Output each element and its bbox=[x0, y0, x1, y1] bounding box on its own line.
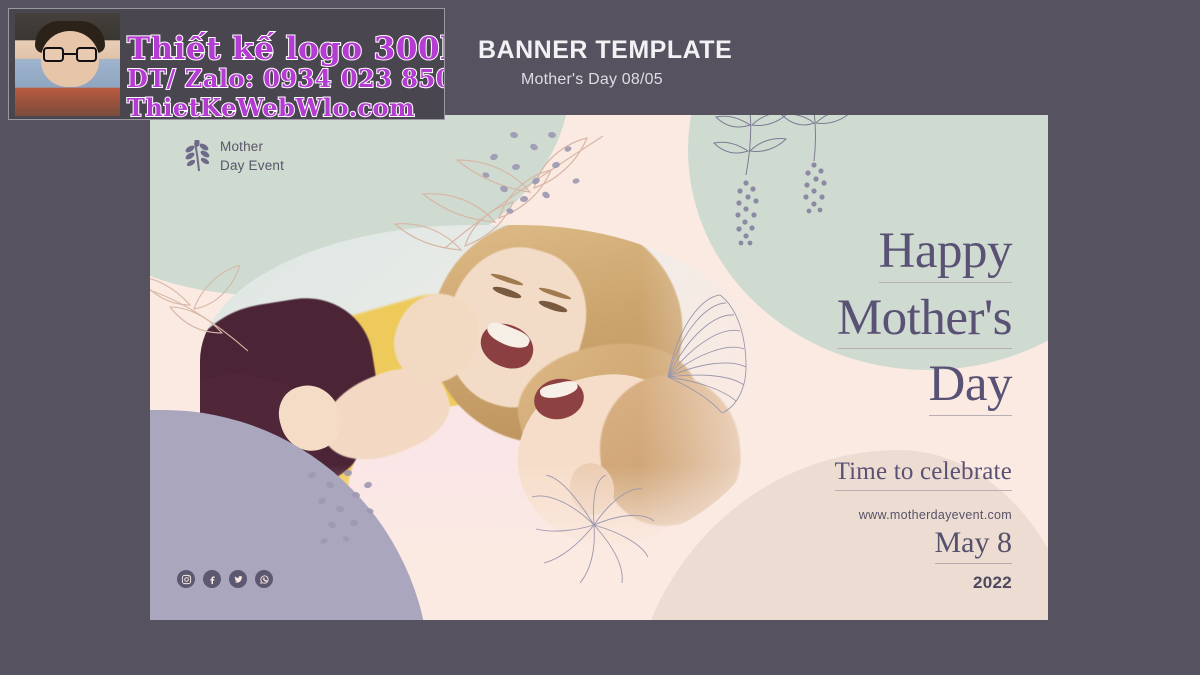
banner-card: Mother Day Event Happy Mother's Day Time… bbox=[150, 115, 1048, 620]
watermark-overlay: Thiết kế logo 300k DT/ Zalo: 0934 023 85… bbox=[8, 8, 445, 120]
wheat-sprig-icon bbox=[185, 140, 211, 172]
screenshot-root: BANNER TEMPLATE Mother's Day 08/05 bbox=[0, 0, 1200, 675]
date-block: May 8 2022 bbox=[935, 526, 1013, 593]
logo-line-1: Mother bbox=[220, 137, 284, 156]
social-links[interactable] bbox=[177, 570, 273, 588]
banner-logo: Mother Day Event bbox=[185, 137, 284, 175]
facebook-icon[interactable] bbox=[203, 570, 221, 588]
page-title: BANNER TEMPLATE bbox=[478, 36, 732, 65]
website-url: www.motherdayevent.com bbox=[592, 508, 1012, 522]
logo-line-2: Day Event bbox=[220, 156, 284, 175]
glasses-icon bbox=[43, 47, 97, 63]
tagline: Time to celebrate bbox=[835, 458, 1012, 491]
event-year: 2022 bbox=[935, 573, 1013, 593]
event-date: May 8 bbox=[935, 526, 1013, 564]
logo-text: Mother Day Event bbox=[220, 137, 284, 175]
watermark-line-1: Thiết kế logo 300k bbox=[127, 31, 445, 67]
instagram-icon[interactable] bbox=[177, 570, 195, 588]
page-subtitle: Mother's Day 08/05 bbox=[521, 71, 663, 89]
watermark-line-2: DT/ Zalo: 0934 023 850 bbox=[127, 64, 445, 93]
twitter-icon[interactable] bbox=[229, 570, 247, 588]
headline-line-3: Day bbox=[929, 358, 1012, 416]
headline-line-1: Happy bbox=[879, 225, 1012, 283]
watermark-line-3: ThietKeWebWlo.com bbox=[127, 93, 415, 120]
headline-line-2: Mother's bbox=[837, 292, 1012, 350]
headline-block: Happy Mother's Day Time to celebrate www… bbox=[592, 225, 1012, 522]
whatsapp-icon[interactable] bbox=[255, 570, 273, 588]
watermark-avatar bbox=[15, 13, 120, 116]
